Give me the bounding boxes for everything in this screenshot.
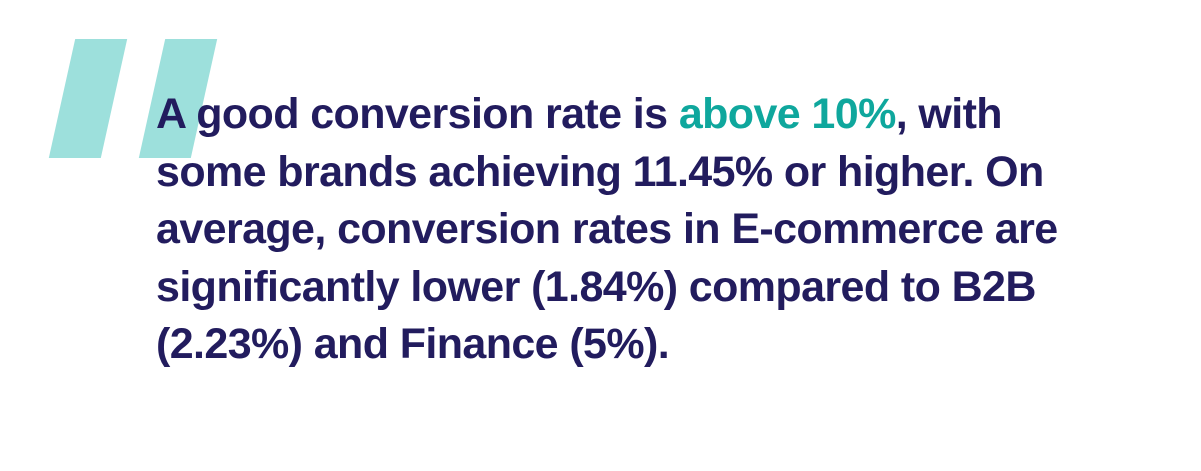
quote-callout-card: A good conversion rate is above 10%, wit… bbox=[0, 0, 1201, 471]
quote-mark-bar-left bbox=[49, 39, 127, 158]
quote-text-lead: A good conversion rate is bbox=[156, 90, 679, 138]
quote-text: A good conversion rate is above 10%, wit… bbox=[156, 86, 1116, 374]
quote-text-accent: above 10% bbox=[679, 90, 896, 138]
